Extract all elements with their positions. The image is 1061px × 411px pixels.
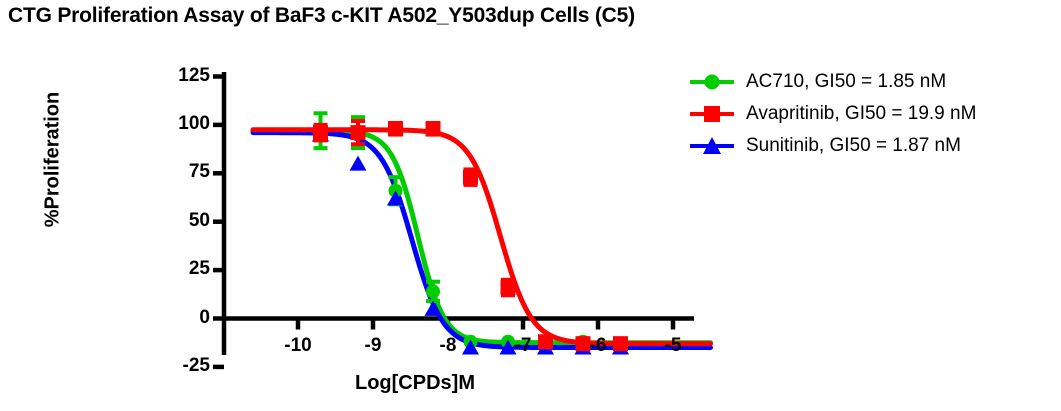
x-tick-label: -10 (268, 335, 328, 357)
x-tick-label: -9 (343, 335, 403, 357)
y-tick-label: 125 (150, 65, 210, 87)
legend-key-svg (688, 70, 736, 94)
data-point-ac710 (426, 284, 440, 298)
data-point-avapritinib (351, 125, 366, 140)
data-point-avapritinib (463, 170, 478, 185)
legend-item-avapritinib[interactable]: Avapritinib, GI50 = 19.9 nM (688, 98, 1058, 130)
data-point-avapritinib (388, 121, 403, 136)
chart-legend: AC710, GI50 = 1.85 nM Avapritinib, GI50 … (688, 66, 1058, 162)
legend-marker-circle-icon (688, 70, 736, 94)
y-axis-label: %Proliferation (42, 50, 65, 270)
legend-key-svg (688, 134, 736, 158)
x-tick-label: -6 (568, 335, 628, 357)
legend-label-ac710: AC710, GI50 = 1.85 nM (736, 71, 946, 93)
curve-avapritinib (253, 130, 711, 344)
data-point-avapritinib (313, 125, 328, 140)
x-tick-label: -7 (493, 335, 553, 357)
legend-label-sunitinib: Sunitinib, GI50 = 1.87 nM (736, 135, 961, 157)
x-tick-label: -5 (643, 335, 703, 357)
y-tick-label: 100 (150, 113, 210, 135)
legend-key-svg (688, 102, 736, 126)
data-point-avapritinib (426, 121, 441, 136)
y-tick-label: 75 (150, 161, 210, 183)
x-axis-label: Log[CPDs]M (300, 372, 530, 395)
data-point-avapritinib (501, 280, 516, 295)
legend-item-sunitinib[interactable]: Sunitinib, GI50 = 1.87 nM (688, 130, 1058, 162)
curve-ac710 (253, 131, 711, 343)
legend-item-ac710[interactable]: AC710, GI50 = 1.85 nM (688, 66, 1058, 98)
y-tick-label: 0 (150, 307, 210, 329)
curve-sunitinib (253, 133, 711, 348)
legend-label-avapritinib: Avapritinib, GI50 = 19.9 nM (736, 103, 976, 125)
data-point-sunitinib (350, 156, 367, 171)
y-tick-label: -25 (150, 355, 210, 377)
chart-figure: CTG Proliferation Assay of BaF3 c-KIT A5… (0, 0, 1061, 411)
y-tick-label: 50 (150, 210, 210, 232)
legend-marker-triangle-icon (688, 134, 736, 158)
y-tick-label: 25 (150, 258, 210, 280)
legend-marker-square-icon (688, 102, 736, 126)
x-tick-label: -8 (418, 335, 478, 357)
